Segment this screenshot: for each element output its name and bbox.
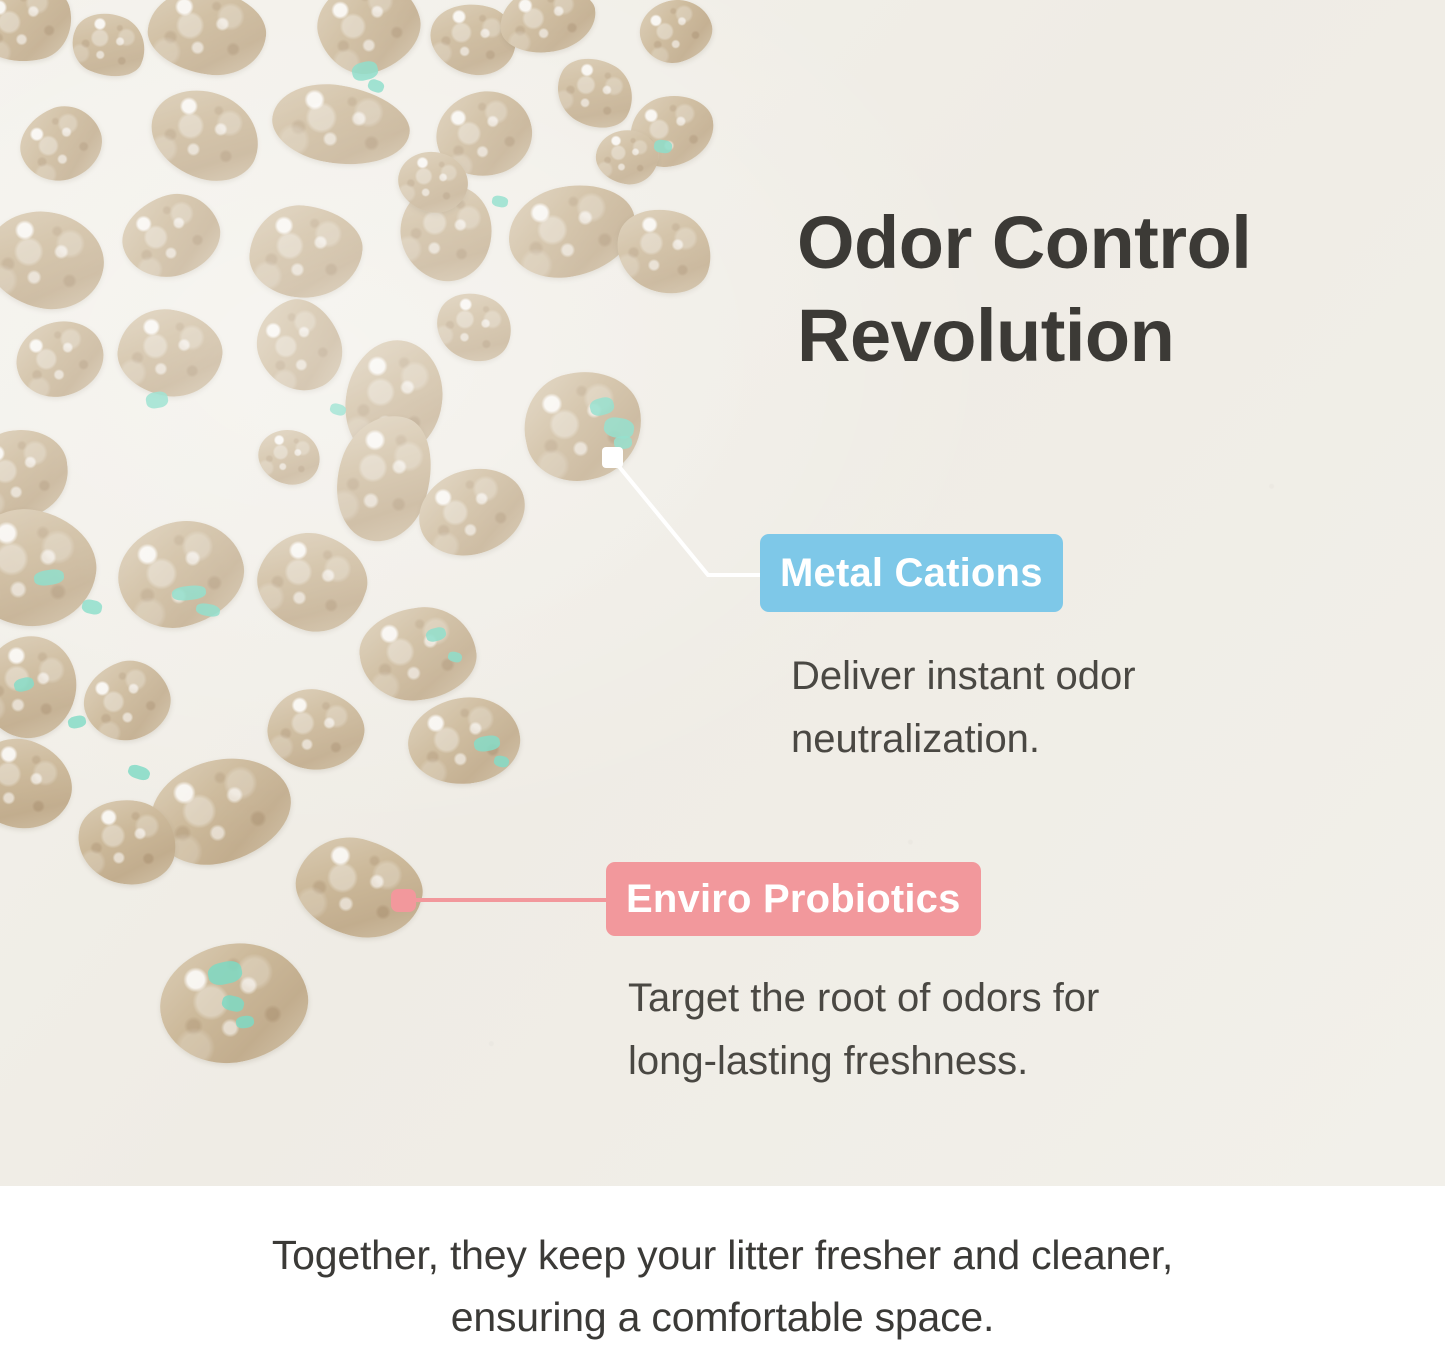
description-metal-cations: Deliver instant odor neutralization. xyxy=(791,645,1311,771)
description-enviro-probiotics-line-1: Target the root of odors for xyxy=(628,976,1099,1020)
description-metal-cations-line-2: neutralization. xyxy=(791,717,1040,761)
page-title-line-1: Odor Control xyxy=(797,201,1251,284)
bottom-caption-band: Together, they keep your litter fresher … xyxy=(0,1186,1445,1366)
caption-line-1: Together, they keep your litter fresher … xyxy=(272,1224,1173,1286)
description-enviro-probiotics: Target the root of odors for long-lastin… xyxy=(628,967,1268,1093)
description-metal-cations-line-1: Deliver instant odor xyxy=(791,654,1136,698)
product-photo-band: Odor Control Revolution Metal Cations De… xyxy=(0,0,1445,1186)
badge-metal-cations-label: Metal Cations xyxy=(780,551,1043,596)
description-enviro-probiotics-line-2: long-lasting freshness. xyxy=(628,1039,1028,1083)
metal-cations-connector-dot xyxy=(602,447,623,468)
enviro-probiotics-connector-dot xyxy=(391,889,416,912)
infographic-root: Odor Control Revolution Metal Cations De… xyxy=(0,0,1445,1366)
badge-enviro-probiotics: Enviro Probiotics xyxy=(606,862,981,936)
page-title-line-2: Revolution xyxy=(797,289,1397,382)
page-title: Odor Control Revolution xyxy=(797,196,1397,382)
badge-enviro-probiotics-label: Enviro Probiotics xyxy=(626,877,961,922)
badge-metal-cations: Metal Cations xyxy=(760,534,1063,612)
caption-line-2: ensuring a comfortable space. xyxy=(451,1286,994,1348)
